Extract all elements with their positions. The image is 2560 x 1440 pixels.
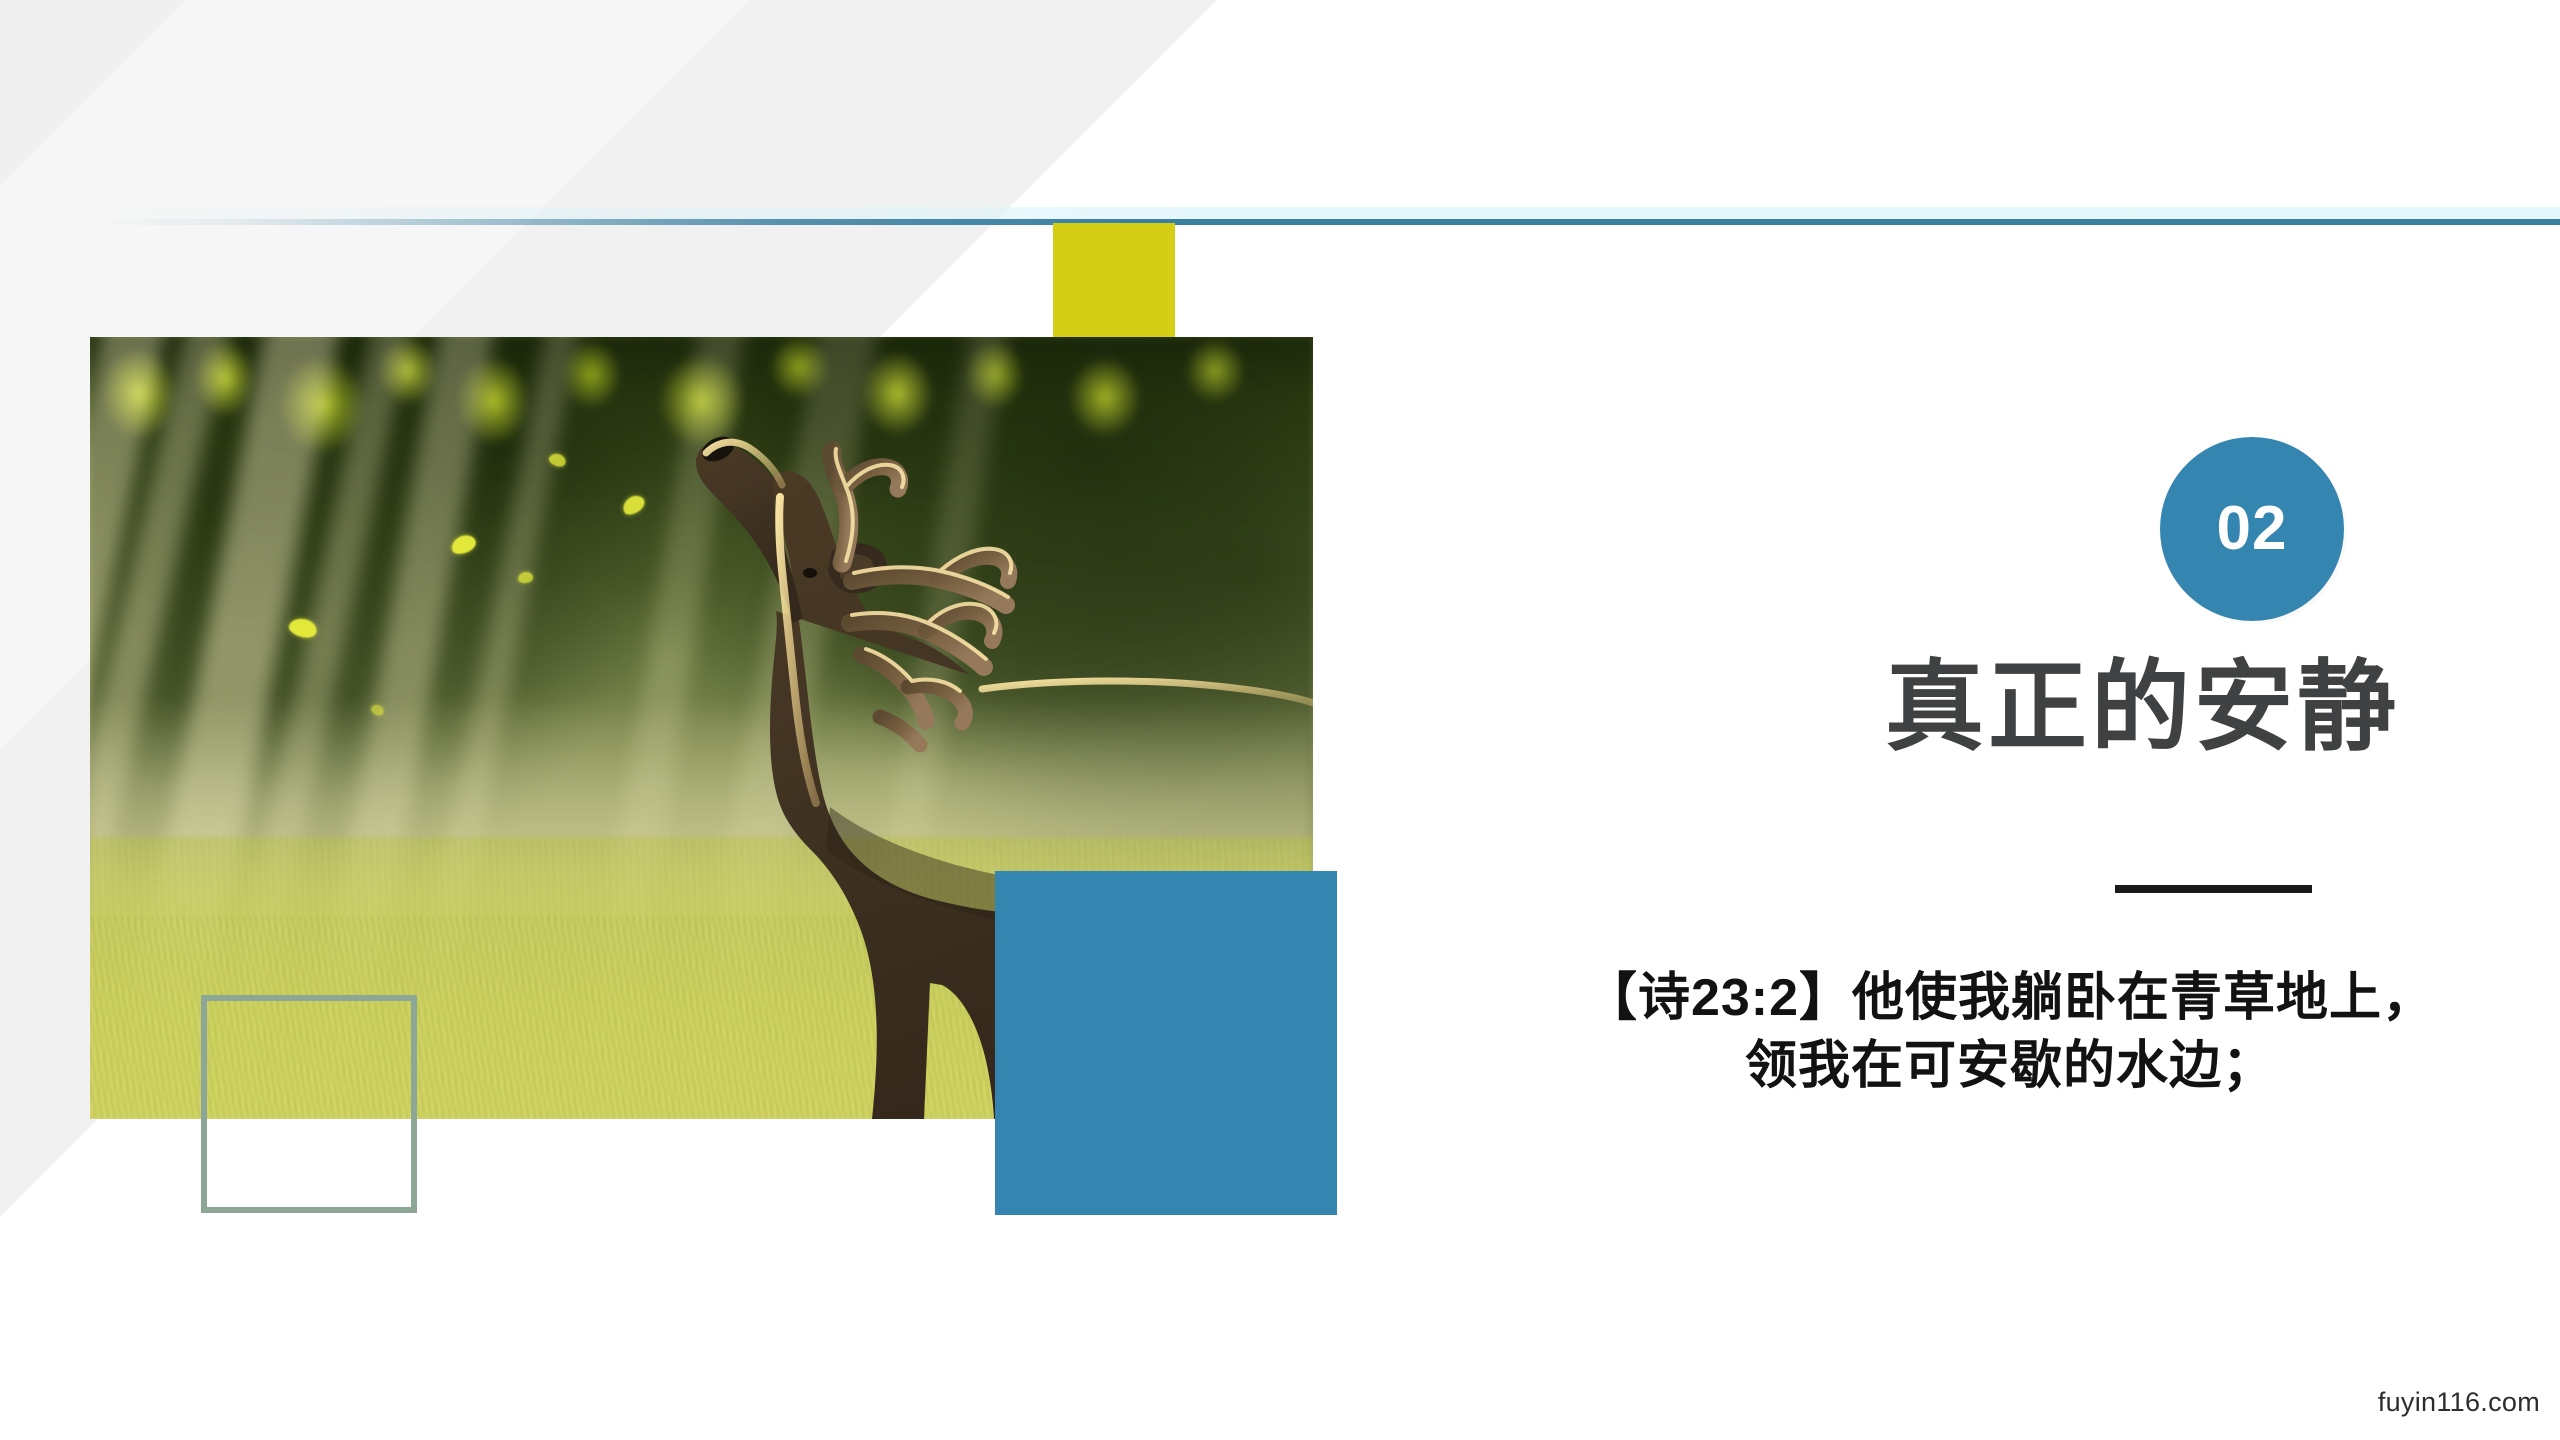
title-underline <box>2115 885 2312 893</box>
section-number-badge: 02 <box>2160 437 2344 621</box>
site-watermark: fuyin116.com <box>2378 1387 2540 1418</box>
content-column: 02 真正的安静 【诗23:2】他使我躺卧在青草地上，领我在可安歇的水边； <box>1560 0 2560 1440</box>
slide-canvas: 02 真正的安静 【诗23:2】他使我躺卧在青草地上，领我在可安歇的水边； fu… <box>0 0 2560 1440</box>
yellow-accent-square <box>1053 223 1175 341</box>
sage-outline-square <box>201 995 417 1213</box>
page-title: 真正的安静 <box>1560 655 2400 759</box>
blue-accent-square <box>995 871 1337 1215</box>
scripture-verse: 【诗23:2】他使我躺卧在青草地上，领我在可安歇的水边； <box>1560 965 2460 1100</box>
section-number: 02 <box>2217 498 2288 560</box>
